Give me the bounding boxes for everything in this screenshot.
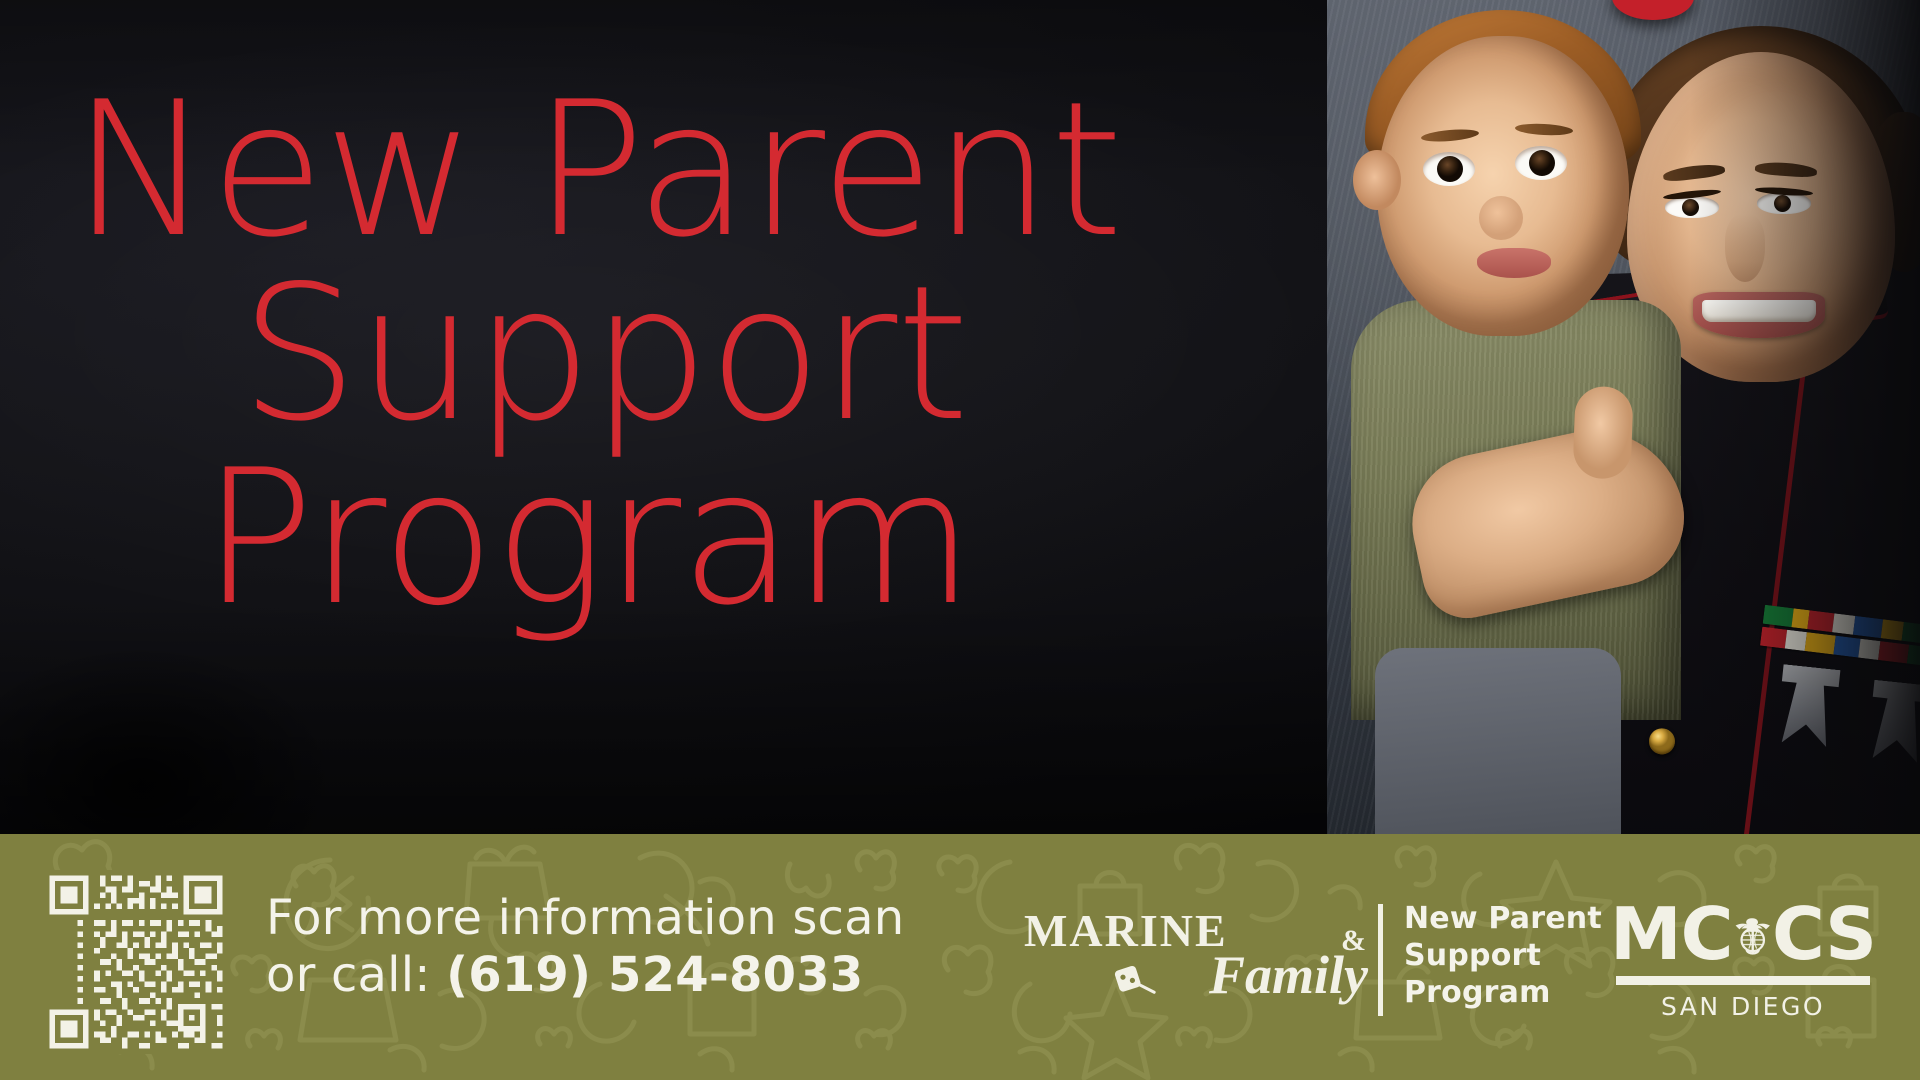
cta-line-2: or call: (619) 524-8033	[266, 947, 904, 1004]
program-lockup-line-3: Program	[1404, 974, 1602, 1011]
program-lockup-line-1: New Parent	[1404, 900, 1602, 937]
child-ear	[1353, 150, 1401, 210]
headline-line-2: Support	[72, 262, 1282, 446]
mccs-logo: MC CS	[1610, 898, 1876, 1018]
headline-line-3: Program	[72, 446, 1282, 630]
phone-number[interactable]: (619) 524-8033	[446, 947, 863, 1003]
mccs-cs-text: CS	[1772, 898, 1876, 970]
mccs-rule	[1616, 976, 1870, 985]
program-lockup: New Parent Support Program	[1404, 900, 1602, 1012]
photo-edge-shading	[1690, 0, 1920, 834]
mccs-subtitle: SAN DIEGO	[1610, 992, 1876, 1021]
child-eye	[1423, 152, 1475, 186]
logo-family-word: Family	[1209, 948, 1368, 1002]
poster-headline: New Parent Support Program	[72, 78, 1282, 630]
cta-call-prefix: or call:	[266, 947, 446, 1003]
qr-code[interactable]	[44, 870, 228, 1054]
child-nose	[1479, 196, 1523, 240]
poster-root: New Parent Support Program	[0, 0, 1920, 1080]
rattle-icon	[1106, 954, 1161, 1009]
mccs-wordmark: MC CS	[1610, 898, 1876, 970]
mccs-mc-text: MC	[1610, 898, 1733, 970]
call-to-action-text: For more information scan or call: (619)…	[266, 890, 904, 1003]
program-lockup-line-2: Support	[1404, 937, 1602, 974]
marine-family-logo: MARINE & Family	[1020, 908, 1370, 1013]
cta-line-1: For more information scan	[266, 890, 904, 947]
bottom-banner: For more information scan or call: (619)…	[0, 834, 1920, 1080]
eagle-globe-anchor-icon	[1729, 900, 1776, 972]
child-face	[1377, 36, 1629, 336]
child-eye	[1515, 146, 1567, 180]
logo-marine-word: MARINE	[1024, 908, 1228, 954]
child-mouth	[1477, 248, 1551, 278]
headline-line-1: New Parent	[72, 78, 1282, 262]
child-pants	[1375, 648, 1621, 834]
hero-photo	[1327, 0, 1920, 834]
logo-divider	[1378, 904, 1383, 1016]
